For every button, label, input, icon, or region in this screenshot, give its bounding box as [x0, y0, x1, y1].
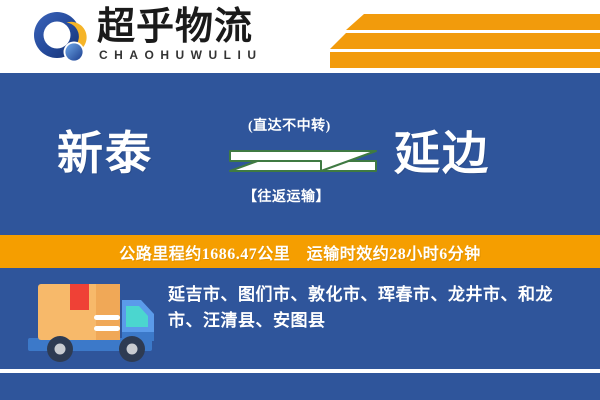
delivery-truck-icon	[22, 270, 162, 372]
header-bar: 超乎物流 CHAOHUWULIU	[0, 0, 600, 73]
round-trip-note: 【往返运输】	[243, 186, 330, 206]
double-headed-arrow-icon	[227, 143, 379, 179]
distance-duration-text: 公路里程约1686.47公里 运输时效约28小时6分钟	[119, 240, 481, 264]
coverage-panel: 延吉市、图们市、敦化市、珲春市、龙井市、和龙市、汪清县、安图县	[0, 268, 600, 400]
direct-shipping-note: (直达不中转)	[248, 115, 331, 135]
road-line	[0, 369, 600, 373]
brand-name-en: CHAOHUWULIU	[99, 48, 263, 62]
brand-name-cn: 超乎物流	[97, 6, 253, 48]
logistics-route-banner: 超乎物流 CHAOHUWULIU 新泰 (直达不中转) 【往返运输】 延边 公路…	[0, 0, 600, 400]
destination-city-label: 延边	[394, 128, 490, 180]
origin-city-label: 新泰	[57, 128, 153, 180]
distance-duration-bar: 公路里程约1686.47公里 运输时效约28小时6分钟	[0, 235, 600, 268]
route-panel: 新泰 (直达不中转) 【往返运输】 延边	[0, 73, 600, 235]
coverage-city-list: 延吉市、图们市、敦化市、珲春市、龙井市、和龙市、汪清县、安图县	[168, 282, 576, 334]
orange-speed-stripes-icon	[330, 0, 600, 73]
chaohu-circle-crescent-logo-icon	[33, 11, 87, 65]
